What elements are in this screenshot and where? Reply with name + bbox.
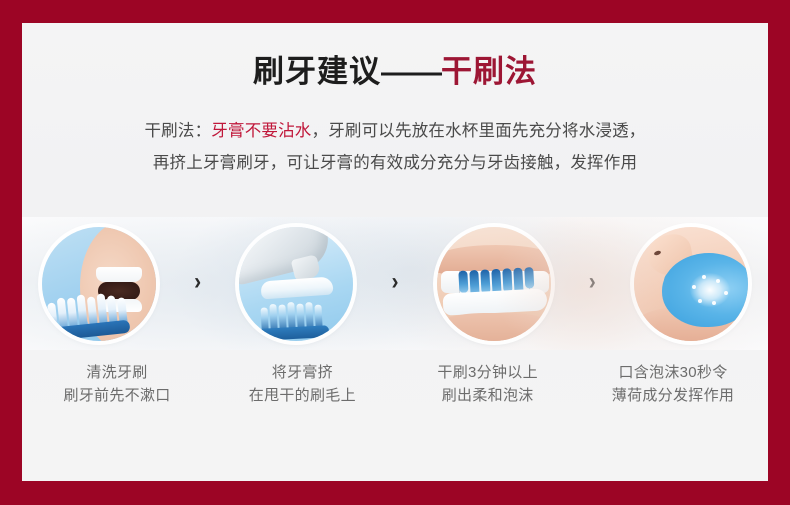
sparkle-glow-icon (690, 273, 730, 307)
step-2-caption-line-1: 将牙膏挤 (213, 361, 391, 384)
title-dash: —— (381, 54, 441, 89)
chevron-right-icon-2: › (389, 269, 400, 293)
steps-photo-strip: › (22, 217, 768, 350)
page-title: 刷牙建议——干刷法 (22, 53, 768, 90)
step-1-caption: 清洗牙刷 刷牙前先不漱口 (28, 361, 206, 408)
step-3-image (433, 223, 555, 345)
intro-line-1-rest: ，牙刷可以先放在水杯里面先充分将水浸透， (312, 122, 646, 140)
poster-content: 刷牙建议——干刷法 干刷法：牙膏不要沾水，牙刷可以先放在水杯里面先充分将水浸透，… (22, 23, 768, 481)
step-4-image (630, 223, 752, 345)
step-3-caption: 干刷3分钟以上 刷出柔和泡沫 (399, 361, 577, 408)
step-1-image (38, 223, 160, 345)
chin-shape (437, 313, 551, 341)
title-part-1: 刷牙建议 (253, 54, 381, 89)
poster-frame: 刷牙建议——干刷法 干刷法：牙膏不要沾水，牙刷可以先放在水杯里面先充分将水浸透，… (0, 0, 790, 505)
intro-highlight: 牙膏不要沾水 (211, 122, 311, 140)
nostril (653, 249, 661, 255)
step-4-caption-line-1: 口含泡沫30秒令 (584, 361, 762, 384)
foam-held-in-cheek-photo (634, 227, 748, 341)
step-4-caption: 口含泡沫30秒令 薄荷成分发挥作用 (584, 361, 762, 408)
step-3-caption-line-1: 干刷3分钟以上 (399, 361, 577, 384)
front-teeth (441, 271, 549, 293)
toothpaste-blob (261, 276, 334, 299)
step-2-caption: 将牙膏挤 在甩干的刷毛上 (213, 361, 391, 408)
intro-paragraph-line-1: 干刷法：牙膏不要沾水，牙刷可以先放在水杯里面先充分将水浸透， (40, 116, 750, 148)
step-1-caption-line-2: 刷牙前先不漱口 (28, 384, 206, 407)
toothpaste-squeezed-onto-brush-photo (239, 227, 353, 341)
step-1-caption-line-1: 清洗牙刷 (28, 361, 206, 384)
brush-body (442, 288, 547, 315)
step-4-caption-line-2: 薄荷成分发挥作用 (584, 384, 762, 407)
title-part-2: 干刷法 (441, 54, 537, 89)
upper-teeth (96, 267, 142, 282)
step-2-caption-line-2: 在甩干的刷毛上 (213, 384, 391, 407)
intro-paragraph-line-2: 再挤上牙膏刷牙，可让牙膏的有效成分充分与牙齿接触，发挥作用 (40, 148, 750, 180)
intro-paragraph: 干刷法：牙膏不要沾水，牙刷可以先放在水杯里面先充分将水浸透， 再挤上牙膏刷牙，可… (40, 116, 750, 179)
chevron-right-icon-3: › (587, 269, 598, 293)
steps-row: › (22, 217, 768, 350)
brushing-teeth-closeup-photo (437, 227, 551, 341)
step-captions-row: 清洗牙刷 刷牙前先不漱口 将牙膏挤 在甩干的刷毛上 干刷3分钟以上 刷出柔和泡沫… (22, 361, 768, 408)
intro-label: 干刷法： (144, 122, 211, 140)
step-3-caption-line-2: 刷出柔和泡沫 (399, 384, 577, 407)
chevron-right-icon-1: › (192, 269, 203, 293)
step-2-image (235, 223, 357, 345)
toothbrush-bristles-and-open-mouth-photo (42, 227, 156, 341)
